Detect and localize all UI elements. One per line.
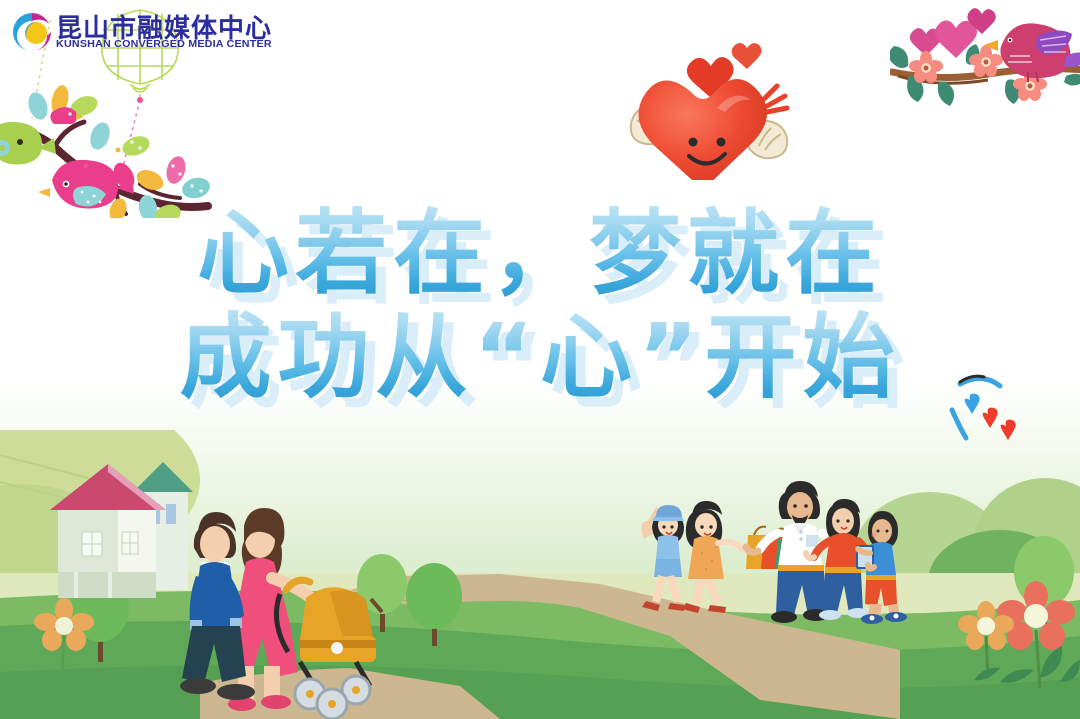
grass-leaves <box>974 646 1080 683</box>
logo-name-en: KUNSHAN CONVERGED MEDIA CENTER <box>56 38 272 50</box>
poster-canvas: 心若在，梦就在 心若在，梦就在 成功从“心”开始 成功从“心”开始 昆山市融媒体… <box>0 0 1080 719</box>
couple-with-stroller <box>160 490 400 719</box>
heart-eye-right <box>717 138 726 147</box>
tree-small-mid <box>406 563 462 646</box>
family-of-five <box>630 475 910 630</box>
logo-block: 昆山市融媒体中心 KUNSHAN CONVERGED MEDIA CENTER <box>8 6 278 58</box>
headline: 心若在，梦就在 心若在，梦就在 成功从“心”开始 成功从“心”开始 <box>0 205 1080 407</box>
winged-smiling-heart-icon <box>625 30 825 180</box>
green-bird <box>0 122 56 165</box>
speed-lines <box>763 86 787 112</box>
girl-jumping-orange <box>682 501 742 613</box>
boy-with-tablet <box>856 511 907 624</box>
flower-orange-left <box>30 596 100 676</box>
flowers-bottom-right <box>940 578 1080 719</box>
headline-line-1: 心若在，梦就在 <box>0 205 1080 303</box>
girl-jumping-blue <box>641 505 684 611</box>
headline-line-2-wrap: 成功从“心”开始 成功从“心”开始 <box>0 309 1080 407</box>
bird-on-branch-icon <box>890 0 1080 120</box>
circular-aperture-logo-icon <box>10 10 54 54</box>
heart-eye-left <box>689 138 698 147</box>
headline-line-2: 成功从“心”开始 <box>0 309 1080 407</box>
headline-line-1-wrap: 心若在，梦就在 心若在，梦就在 <box>0 205 1080 303</box>
small-heart-2 <box>732 43 762 69</box>
